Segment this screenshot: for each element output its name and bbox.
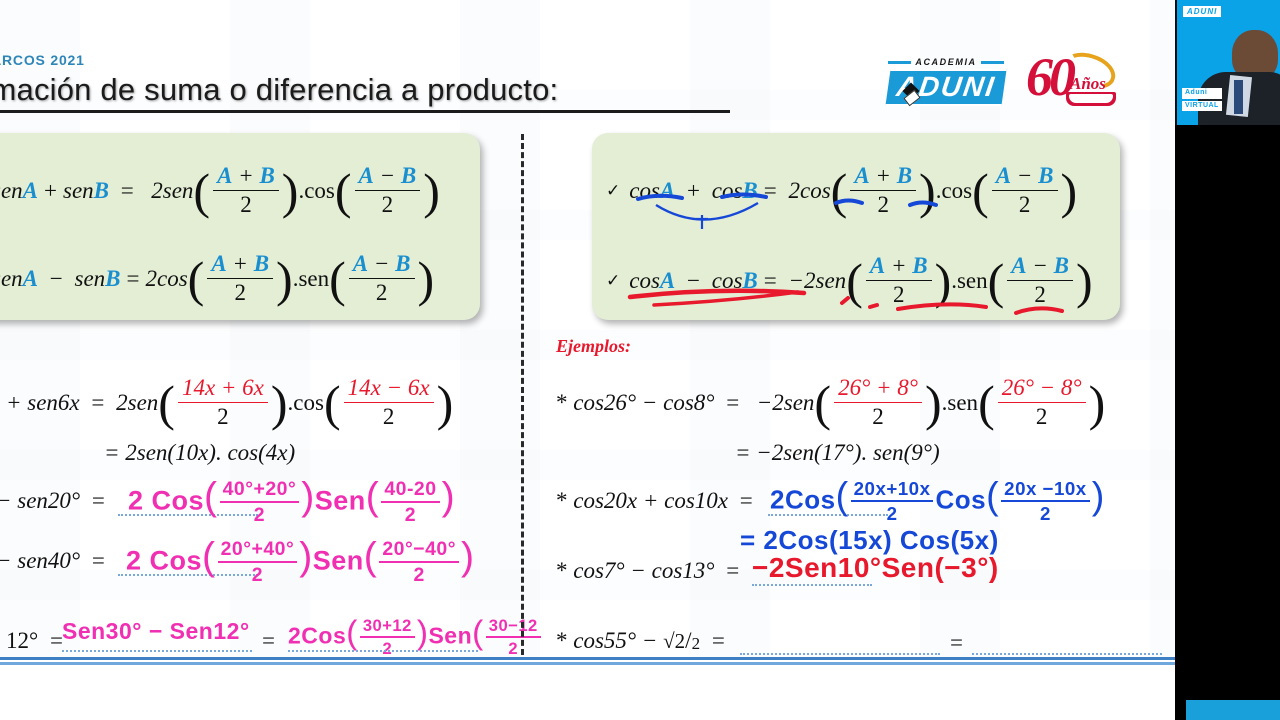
slide-kicker: SAN MARCOS 2021 — [0, 52, 85, 68]
example-right-1-result: = −2sen(17°). sen(9°) — [735, 440, 940, 466]
example-left-1-result: = 2sen(10x). cos(4x) — [104, 440, 295, 466]
title-underline — [0, 110, 730, 113]
screen: SAN MARCOS 2021 sformación de suma o dif… — [0, 0, 1280, 720]
example-right-1: * cos26° − cos8° = −2sen ( 26° + 8°2 ) .… — [556, 375, 1105, 430]
presenter-tie — [1234, 80, 1243, 114]
formula-box-cosine: ✓ cosA + cosB = 2cos ( A + B 2 ) .cos ( … — [592, 133, 1120, 320]
equals-sign: = — [950, 630, 963, 656]
examples-label-right: Ejemplos: — [556, 336, 631, 357]
anniversary-logo: 60 Años — [1026, 52, 1118, 112]
answer-blank[interactable] — [740, 653, 940, 655]
answer-blank[interactable] — [972, 653, 1162, 655]
page-title: sformación de suma o diferencia a produc… — [0, 72, 558, 108]
formula-cos-sum: ✓ cosA + cosB = 2cos ( A + B 2 ) .cos ( … — [606, 163, 1077, 218]
equals-sign: = — [262, 628, 275, 654]
check-icon: ✓ — [606, 271, 620, 291]
bottom-teal-bar — [1186, 700, 1280, 720]
handwriting-blue-1: 2Cos(20x+10x2Cos(20x −10x2) — [770, 478, 1105, 525]
example-left-3: − sen40° = — [0, 548, 117, 574]
handwriting-pink-2: 2 Cos(20°+40°2)Sen(20°−40°2) — [126, 538, 475, 587]
webcam-sub-line2: VIRTUAL — [1182, 101, 1222, 112]
webcam-sub-line1: Aduni — [1182, 88, 1222, 99]
example-right-2: * cos20x + cos10x = — [556, 488, 765, 514]
formula-sen-diff: senA − senB = 2cos ( A + B 2 ) .sen ( A … — [0, 251, 434, 306]
slide-canvas[interactable]: SAN MARCOS 2021 sformación de suma o dif… — [0, 0, 1175, 720]
handwriting-pink-1: 2 Cos(40°+20°2)Sen(40-202) — [128, 478, 455, 527]
background-watermark — [0, 0, 1175, 720]
vertical-divider — [521, 134, 524, 664]
formula-cos-diff: ✓ cosA − cosB = −2sen ( A + B 2 ) .sen (… — [606, 253, 1093, 308]
example-right-3: * cos7° − cos13° = — [556, 558, 751, 584]
handwriting-red-1: −2Sen10°Sen(−3°) — [752, 552, 999, 584]
bottom-area — [0, 665, 1175, 720]
answer-blank[interactable] — [752, 584, 872, 586]
logo-academia-label: ACADEMIA — [915, 57, 976, 67]
webcam-border — [1175, 0, 1177, 125]
example-left-2: − sen20° = — [0, 488, 117, 514]
webcam-feed[interactable]: ADUNI Aduni VIRTUAL — [1175, 0, 1280, 125]
example-right-4: * cos55° − √2/2 = — [556, 628, 737, 654]
webcam-sub-watermark: Aduni VIRTUAL — [1182, 88, 1222, 113]
logo-dash-right — [981, 61, 1004, 64]
right-black-panel — [1175, 125, 1280, 720]
answer-blank[interactable] — [62, 650, 252, 652]
open-book-icon — [1066, 92, 1116, 106]
example-left-1: + sen6x = 2sen ( 14x + 6x2 ) .cos ( 14x … — [6, 375, 453, 430]
logo-dash-left — [888, 61, 911, 64]
webcam-aduni-watermark: ADUNI — [1183, 6, 1221, 17]
check-icon: ✓ — [606, 181, 620, 201]
answer-blank[interactable] — [288, 650, 478, 652]
formula-box-sine: senA + senB = 2sen ( A + B 2 ) .cos ( A … — [0, 133, 480, 320]
formula-sen-sum: senA + senB = 2sen ( A + B 2 ) .cos ( A … — [0, 163, 440, 218]
bottom-rule — [0, 657, 1175, 665]
eraser-cursor-icon — [903, 85, 925, 107]
handwriting-pink-4: 2Cos(30+122)Sen(30−122 — [288, 616, 543, 659]
anniversary-word: Años — [1070, 74, 1106, 94]
handwriting-pink-3: Sen30° − Sen12° — [62, 618, 250, 645]
